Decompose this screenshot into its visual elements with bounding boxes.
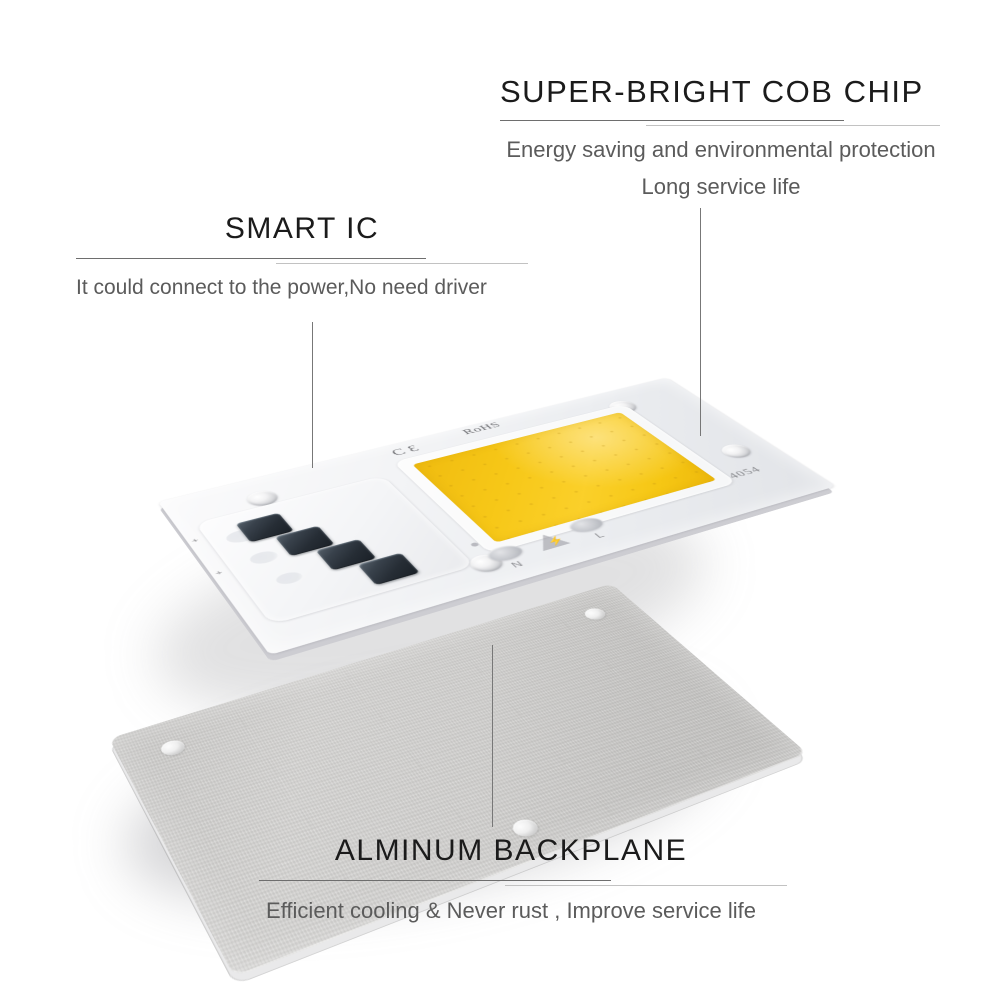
leader-line-aluminum [492,645,493,827]
ic-chip [358,553,420,585]
backplane-mounting-hole [158,738,188,758]
callout-aluminum-title: ALMINUM BACKPLANE [235,836,787,866]
led-pcb-board: C Ɛ RoHS F4054 + + [158,378,835,655]
live-terminal-label: L [592,531,607,540]
rule-upper [76,258,426,259]
rule-lower [646,125,940,126]
pcb-mounting-hole [716,442,756,460]
smart-ic-region [195,476,475,625]
rohs-mark: RoHS [460,420,504,436]
infographic-stage: C Ɛ RoHS F4054 + + [0,0,1000,1000]
polarity-mark: + [214,569,225,577]
cob-phosphor-surface [412,412,716,542]
callout-cob-title: SUPER-BRIGHT COB CHIP [500,76,942,107]
rule-lower [276,263,528,264]
callout-aluminum-subtitle: Efficient cooling & Never rust , Improve… [235,897,787,925]
lightning-bolt-icon: ⚡ [544,535,567,546]
callout-cob-rules [500,118,940,127]
callout-smart-ic-title: SMART IC [76,214,528,244]
ic-chip [275,526,334,556]
callout-smart-ic-rules [76,256,528,265]
polarity-mark: + [190,537,201,544]
solder-blob [223,527,261,545]
ic-chip [236,513,294,543]
solder-blob [247,549,281,566]
callout-smart-ic-subtitle: It could connect to the power,No need dr… [76,275,528,302]
high-voltage-warning-icon [529,531,570,551]
callout-cob-subtitle-1: Energy saving and environmental protecti… [500,136,942,164]
rule-upper [500,120,844,121]
callout-cob-chip: SUPER-BRIGHT COB CHIP Energy saving and … [500,76,942,201]
backplane-mounting-hole [581,606,609,621]
pcb-test-point [470,542,480,547]
neutral-terminal-pad [483,543,527,564]
ic-chip [316,539,377,570]
pcb-mounting-hole [243,488,282,508]
callout-smart-ic: SMART IC It could connect to the power,N… [76,214,528,302]
callout-aluminum-backplane: ALMINUM BACKPLANE Efficient cooling & Ne… [235,836,787,925]
rule-lower [505,885,787,886]
callout-cob-subtitle-2: Long service life [500,173,942,201]
callout-aluminum-rules [235,878,787,887]
pcb-face: C Ɛ RoHS F4054 + + [158,378,835,655]
pcb-mounting-hole [464,552,508,575]
neutral-terminal-label: N [508,559,525,569]
solder-blob [273,570,305,586]
leader-line-smart-ic [312,322,313,468]
rule-upper [259,880,611,881]
live-terminal-pad [565,515,608,535]
led-die-grid [412,412,716,542]
leader-line-cob [700,208,701,436]
